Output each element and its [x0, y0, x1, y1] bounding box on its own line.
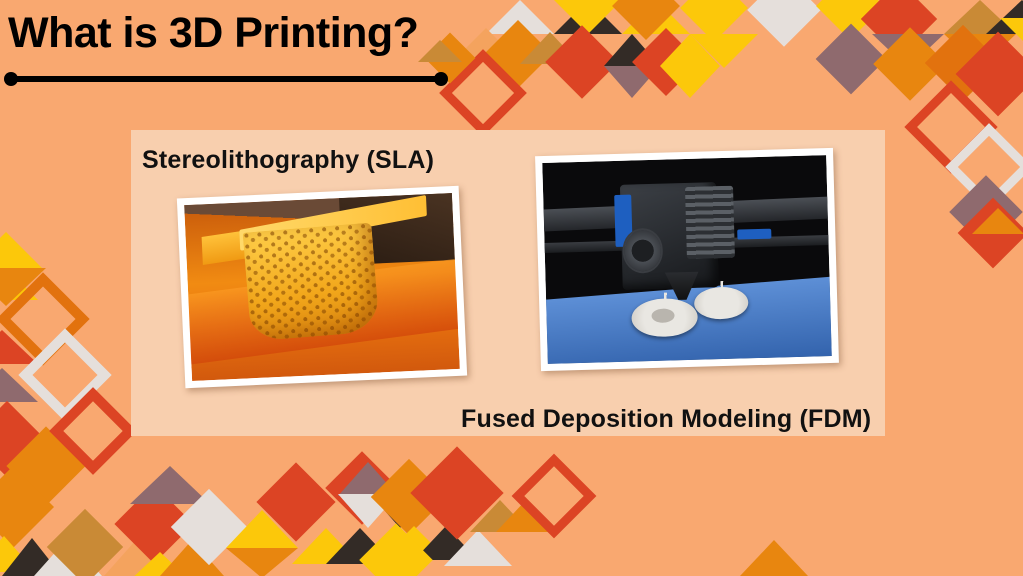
- sla-label: Stereolithography (SLA): [142, 146, 434, 175]
- page-title: What is 3D Printing?: [8, 12, 418, 55]
- fdm-photo-frame[interactable]: [535, 148, 839, 371]
- sla-photo-frame[interactable]: [177, 186, 467, 389]
- slide-canvas: What is 3D Printing?: [0, 0, 1023, 576]
- title-underline-rule: [8, 76, 444, 82]
- sla-resin-print-photo: [184, 193, 460, 381]
- fdm-label: Fused Deposition Modeling (FDM): [461, 405, 871, 434]
- fdm-printer-photo: [542, 155, 832, 364]
